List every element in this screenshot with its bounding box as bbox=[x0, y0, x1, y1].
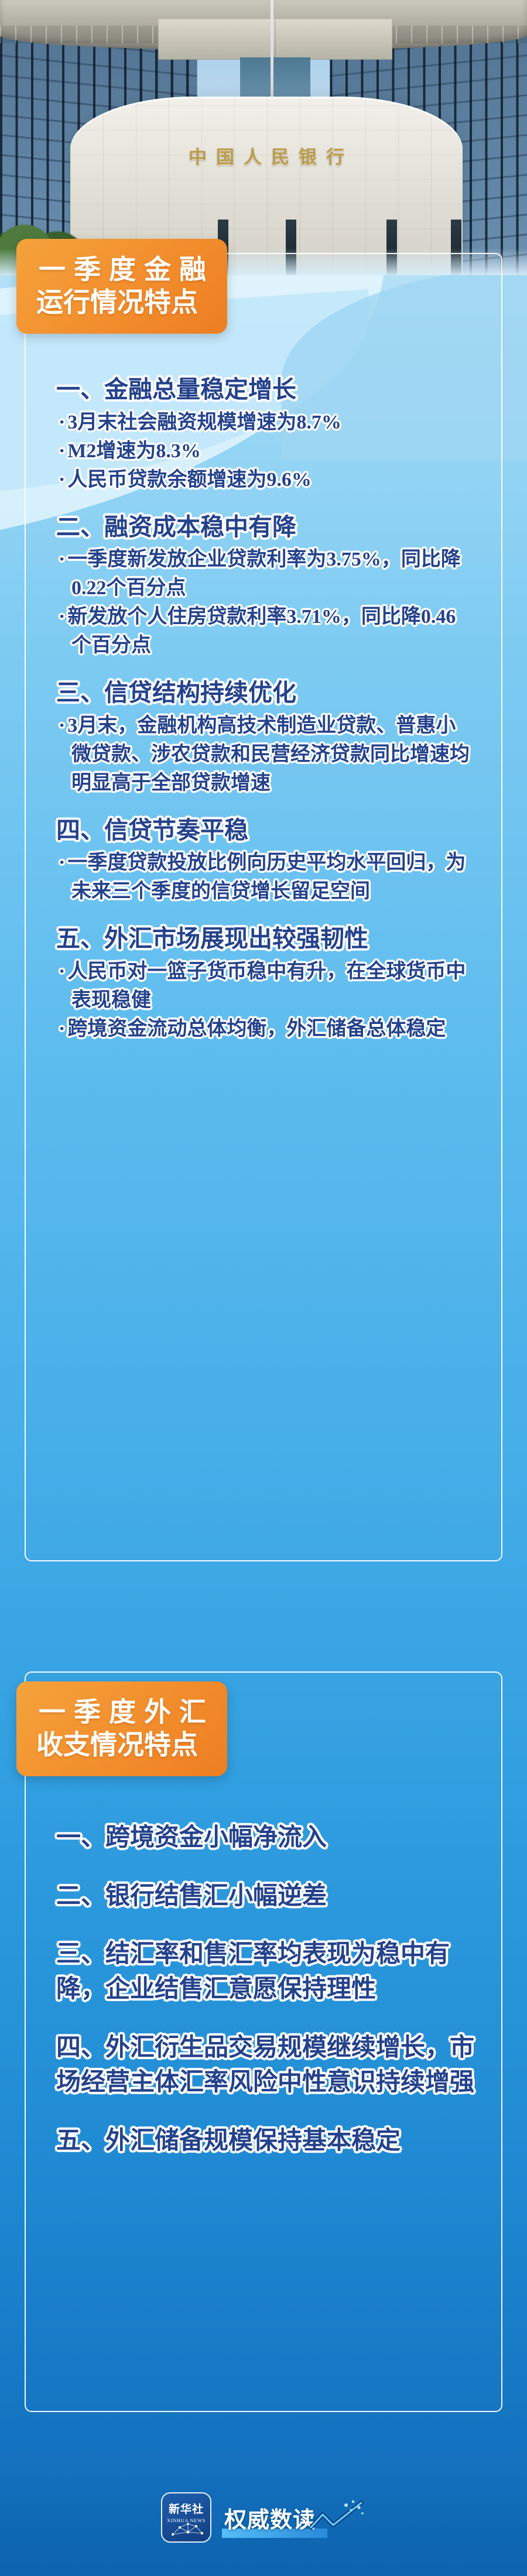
section-title: 一、金融总量稳定增长 bbox=[56, 375, 475, 405]
section-block-5: 五、外汇市场展现出较强韧性 人民币对一篮子货币稳中有升，在全球货币中表现稳健 跨… bbox=[56, 924, 475, 1044]
building-name-text: 中国人民银行 bbox=[70, 142, 463, 169]
upper-block-left bbox=[158, 19, 275, 60]
section-title: 二、银行结售汇小幅逆差 bbox=[56, 1879, 475, 1914]
section-title: 三、结汇率和售汇率均表现为稳中有降，企业结售汇意愿保持理性 bbox=[56, 1937, 475, 2007]
brand-text: 权威数读 bbox=[224, 2502, 316, 2534]
section-title: 五、外汇市场展现出较强韧性 bbox=[56, 924, 475, 954]
section-bullet: 跨境资金流动总体均衡，外汇储备总体稳定 bbox=[56, 1015, 475, 1044]
network-globe-icon bbox=[162, 2519, 211, 2539]
section-title: 二、融资成本稳中有降 bbox=[56, 512, 475, 543]
section-block-4: 四、信贷节奏平稳 一季度贷款投放比例向历史平均水平回归，为未来三个季度的信贷增长… bbox=[56, 816, 475, 907]
badge-financial-title: 一季度金融 运行情况特点 bbox=[16, 239, 227, 334]
section-bullet: 人民币对一篮子货币稳中有升，在全球货币中表现稳健 bbox=[56, 958, 475, 1015]
section-block-1: 一、金融总量稳定增长 3月末社会融资规模增速为8.7% M2增速为8.3% 人民… bbox=[56, 375, 475, 495]
section-bullet: 3月末，金融机构高技术制造业贷款、普惠小微贷款、涉农贷款和民营经济贷款同比增速均… bbox=[56, 712, 475, 798]
section-bullet: 人民币贷款余额增速为9.6% bbox=[56, 466, 475, 495]
section-title: 四、信贷节奏平稳 bbox=[56, 816, 475, 846]
section-bullet: 一季度新发放企业贷款利率为3.75%，同比降0.22个百分点 bbox=[56, 546, 475, 603]
section-title: 一、跨境资金小幅净流入 bbox=[56, 1821, 475, 1856]
section-block-3: 三、信贷结构持续优化 3月末，金融机构高技术制造业贷款、普惠小微贷款、涉农贷款和… bbox=[56, 678, 475, 798]
forex-sections: 一、跨境资金小幅净流入 二、银行结售汇小幅逆差 三、结汇率和售汇率均表现为稳中有… bbox=[56, 1821, 475, 2182]
chart-arrow-icon bbox=[310, 2499, 366, 2536]
section-title: 四、外汇衍生品交易规模继续增长，市场经营主体汇率风险中性意识持续增强 bbox=[56, 2031, 475, 2101]
badge-line-1: 一季度金融 bbox=[36, 253, 210, 286]
footer-bar: 新华社 XINHUA NEWS 权威数读 bbox=[0, 2459, 527, 2576]
section-block-2: 二、融资成本稳中有降 一季度新发放企业贷款利率为3.75%，同比降0.22个百分… bbox=[56, 512, 475, 660]
financial-sections: 一、金融总量稳定增长 3月末社会融资规模增速为8.7% M2增速为8.3% 人民… bbox=[56, 375, 475, 1044]
badge-line-2: 运行情况特点 bbox=[36, 286, 210, 318]
section-bullet: M2增速为8.3% bbox=[56, 437, 475, 466]
section-bullet: 新发放个人住房贷款利率3.71%，同比降0.46个百分点 bbox=[56, 603, 475, 660]
section-bullet: 一季度贷款投放比例向历史平均水平回归，为未来三个季度的信贷增长留足空间 bbox=[56, 849, 475, 906]
section-title: 五、外汇储备规模保持基本稳定 bbox=[56, 2124, 475, 2159]
xinhua-logo: 新华社 XINHUA NEWS bbox=[161, 2492, 211, 2543]
section-bullet: 3月末社会融资规模增速为8.7% bbox=[56, 409, 475, 437]
brand-qwsd: 权威数读 bbox=[224, 2499, 366, 2536]
section-title: 三、信贷结构持续优化 bbox=[56, 678, 475, 708]
xinhua-logo-cn-text: 新华社 bbox=[169, 2500, 204, 2516]
badge-line-2: 收支情况特点 bbox=[36, 1728, 210, 1761]
hero-photo: 中国人民银行 bbox=[0, 0, 527, 275]
upper-block-right bbox=[275, 19, 392, 60]
badge-forex-title: 一季度外汇 收支情况特点 bbox=[16, 1681, 227, 1776]
badge-line-1: 一季度外汇 bbox=[36, 1695, 210, 1728]
